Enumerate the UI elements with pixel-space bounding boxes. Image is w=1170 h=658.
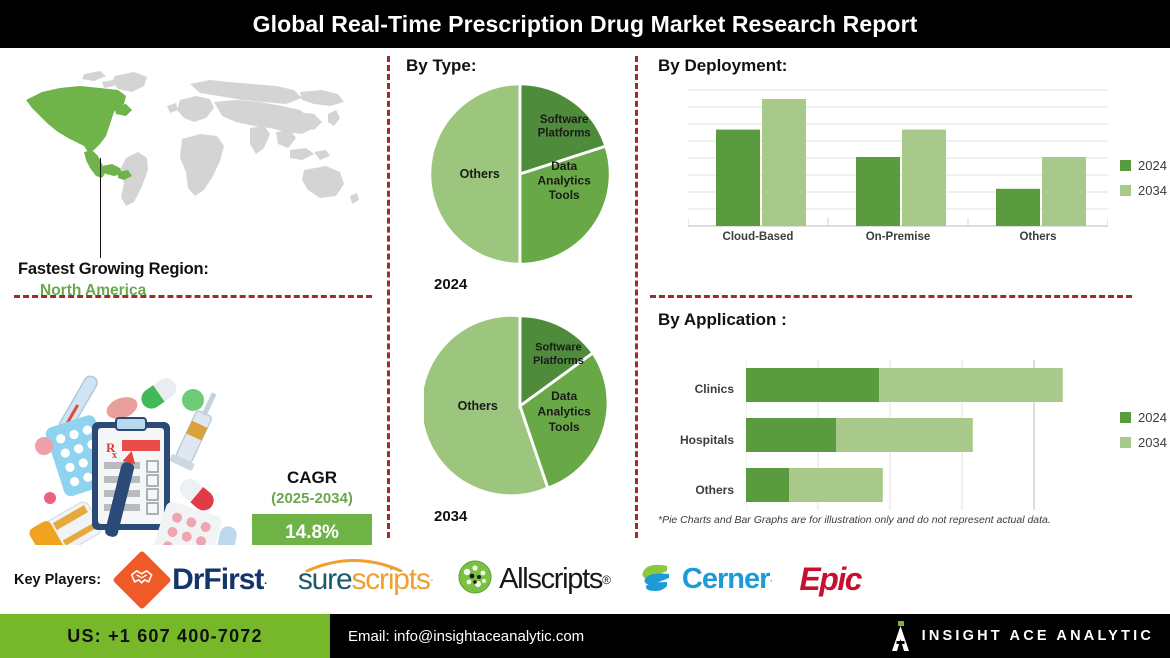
application-legend: 2024 2034 [1120,410,1167,450]
world-map-icon [14,66,364,216]
by-type-column: By Type: Software Platforms Data Analyti… [388,48,636,545]
svg-text:Analytics: Analytics [537,405,591,419]
legend-swatch-app-2034 [1120,437,1131,448]
deployment-cat-0: Cloud-Based [688,231,828,243]
deployment-bar-chart [688,88,1108,228]
application-cat-0: Clinics [630,382,734,396]
map-pointer-line [100,158,101,258]
legend-item-2034: 2034 [1120,183,1167,198]
contact-right-section: Email: info@insightaceanalytic.com INSIG… [330,614,1170,658]
epic-wordmark: Epic [799,561,861,598]
allscripts-trademark: ® [602,573,611,587]
deployment-cat-1: On-Premise [828,231,968,243]
svg-text:Analytics: Analytics [537,174,591,188]
legend-swatch-2024 [1120,160,1131,171]
application-bar-chart [746,360,1106,510]
svg-text:Others: Others [458,399,498,413]
pie-chart-2034: Software Platforms Data Analytics Tools … [424,310,616,502]
logo-drfirst[interactable]: DrFirst . [121,559,268,601]
legend-label-app-2024: 2024 [1138,410,1167,425]
allscripts-wordmark: Allscripts [499,563,602,596]
contact-email[interactable]: Email: info@insightaceanalytic.com [348,628,584,645]
cerner-swoosh-logo-icon [637,560,675,599]
cagr-years: (2025-2034) [252,490,372,507]
svg-text:Platforms: Platforms [533,355,584,367]
left-column: Fastest Growing Region: North America [0,48,388,545]
pie-2024-year: 2024 [434,276,467,293]
key-players-label: Key Players: [14,572,101,588]
fastest-growing-region-block: Fastest Growing Region: North America [18,260,358,300]
contact-phone[interactable]: US: +1 607 400-7072 [0,614,330,658]
logo-allscripts[interactable]: Allscripts ® [458,560,611,599]
chart-disclaimer: *Pie Charts and Bar Graphs are for illus… [658,514,1158,526]
by-application-title: By Application : [658,310,787,330]
prescription-pills-illustration-icon: R x [18,366,250,566]
svg-text:Others: Others [460,167,500,181]
allscripts-sphere-logo-icon [458,560,492,599]
insight-ace-a-mark-icon [891,621,910,651]
region-title: Fastest Growing Region: [18,260,358,279]
legend-item-app-2024: 2024 [1120,410,1167,425]
application-cat-2: Others [630,483,734,497]
right-column: By Deployment: [636,48,1170,545]
legend-swatch-app-2024 [1120,412,1131,423]
infographic-root: Global Real-Time Prescription Drug Marke… [0,0,1170,658]
drfirst-trademark-dot: . [263,571,267,589]
svg-text:Tools: Tools [549,188,580,202]
contact-bar: US: +1 607 400-7072 Email: info@insighta… [0,614,1170,658]
legend-swatch-2034 [1120,185,1131,196]
logo-epic[interactable]: Epic [799,561,861,598]
header-bar: Global Real-Time Prescription Drug Marke… [0,0,1170,48]
cerner-trademark: · [769,573,773,587]
cerner-wordmark: Cerner [682,563,770,596]
legend-label-app-2034: 2034 [1138,435,1167,450]
by-type-title: By Type: [406,56,477,76]
drfirst-wordmark: DrFirst [172,563,263,597]
legend-item-app-2034: 2034 [1120,435,1167,450]
legend-label-2034: 2034 [1138,183,1167,198]
legend-item-2024: 2024 [1120,158,1167,173]
surescripts-arc-icon [304,556,404,577]
region-name: North America [40,282,358,300]
application-cat-1: Hospitals [630,433,734,447]
brand-name: INSIGHT ACE ANALYTIC [922,628,1154,644]
deployment-cat-2: Others [968,231,1108,243]
deployment-legend: 2024 2034 [1120,158,1167,198]
logo-surescripts[interactable]: sure scripts · [298,563,434,597]
cagr-block: CAGR (2025-2034) 14.8% [252,468,372,553]
svg-text:Platforms: Platforms [538,128,591,140]
key-players-strip: Key Players: DrFirst . sure scripts [0,545,1170,614]
legend-label-2024: 2024 [1138,158,1167,173]
svg-text:Tools: Tools [549,420,580,434]
brand-block: INSIGHT ACE ANALYTIC [891,621,1154,651]
svg-text:Software: Software [540,114,589,126]
svg-text:Software: Software [535,341,582,353]
drfirst-handshake-diamond-logo-icon [112,550,171,609]
pie-2034-year: 2034 [434,508,467,525]
deployment-category-labels: Cloud-Based On-Premise Others [688,231,1108,243]
surescripts-trademark: · [430,572,434,587]
pie-chart-2024: Software Platforms Data Analytics Tools … [424,78,616,270]
by-deployment-title: By Deployment: [658,56,787,76]
svg-text:x: x [112,450,117,461]
application-category-labels: Clinics Hospitals Others [636,360,740,510]
handshake-icon [130,566,154,593]
logo-cerner[interactable]: Cerner · [637,560,774,599]
svg-text:Data: Data [551,389,577,403]
svg-text:Data: Data [551,159,577,173]
page-title: Global Real-Time Prescription Drug Marke… [253,11,918,38]
cagr-label: CAGR [252,468,372,488]
